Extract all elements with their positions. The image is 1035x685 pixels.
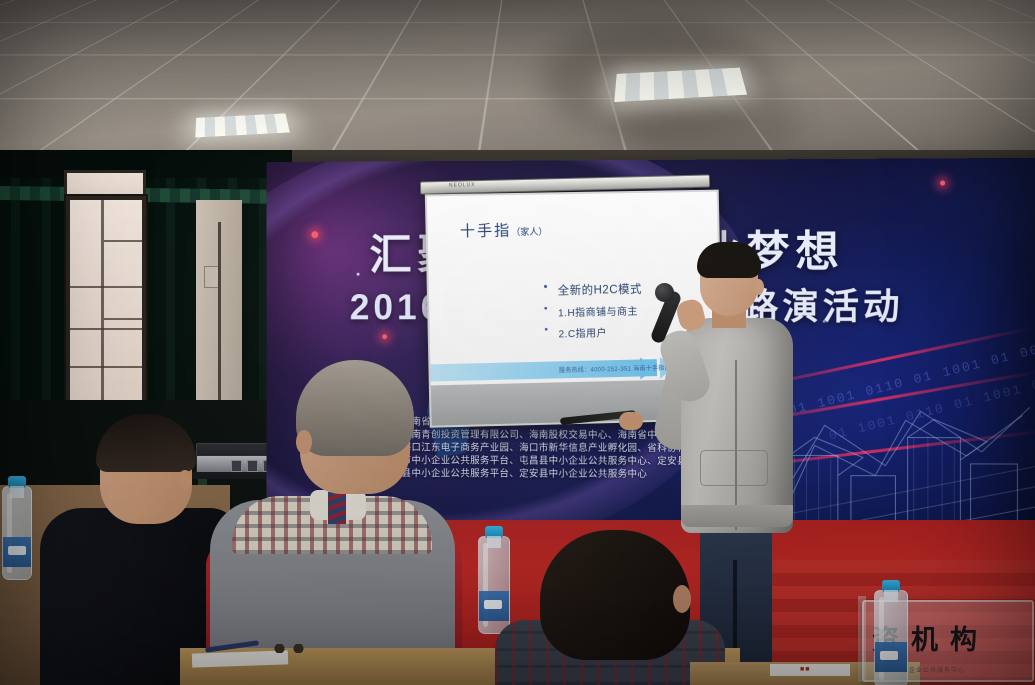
slide-bullet: 2.C指用户	[544, 324, 643, 341]
speaker-hoodie-hem	[681, 505, 793, 527]
speaker-ear	[753, 279, 764, 295]
slide-title: 十手指（家人）	[460, 218, 548, 241]
water-bottle[interactable]	[874, 590, 908, 685]
vest-man-tie	[328, 492, 346, 524]
water-bottle[interactable]	[478, 536, 510, 634]
slide-title-main: 十手指	[460, 222, 512, 240]
speaker-hoodie-pocket	[700, 450, 768, 486]
vest-man-ear	[296, 430, 312, 454]
speaker-hand-holding-pointer	[619, 412, 643, 430]
photo-scene: 01 1001 0110 01 1001 01 001 01 001 01 01…	[0, 0, 1035, 685]
plaid-man-ear	[673, 585, 691, 613]
screen-brand-label: NEOLUX	[449, 182, 476, 189]
bottle-neck	[10, 486, 24, 498]
ceiling	[0, 0, 1035, 175]
slide-bullet: 1.H指商铺与商主	[544, 303, 643, 320]
suit-man-ear	[178, 470, 192, 490]
plaid-man-head	[540, 530, 690, 660]
speaker-hair	[697, 242, 761, 278]
slide-bullet: 全新的H2C模式	[543, 281, 642, 299]
ceiling-tile-grid	[0, 0, 1035, 175]
front-table-paper-mark: ■■	[800, 666, 810, 673]
bottle-label	[3, 537, 31, 567]
window	[66, 196, 146, 419]
curtain-rail	[0, 150, 292, 178]
bottle-label	[479, 591, 509, 621]
microphone-head	[655, 283, 674, 302]
slide-title-sub: （家人）	[511, 226, 547, 237]
slide-bullet-list: 全新的H2C模式 1.H指商铺与商主 2.C指用户	[503, 281, 643, 348]
bottle-neck	[487, 536, 501, 548]
bottle-neck	[884, 590, 898, 602]
water-bottle[interactable]	[2, 486, 32, 580]
bottle-label	[875, 642, 907, 672]
table-eyeglasses	[272, 644, 306, 653]
